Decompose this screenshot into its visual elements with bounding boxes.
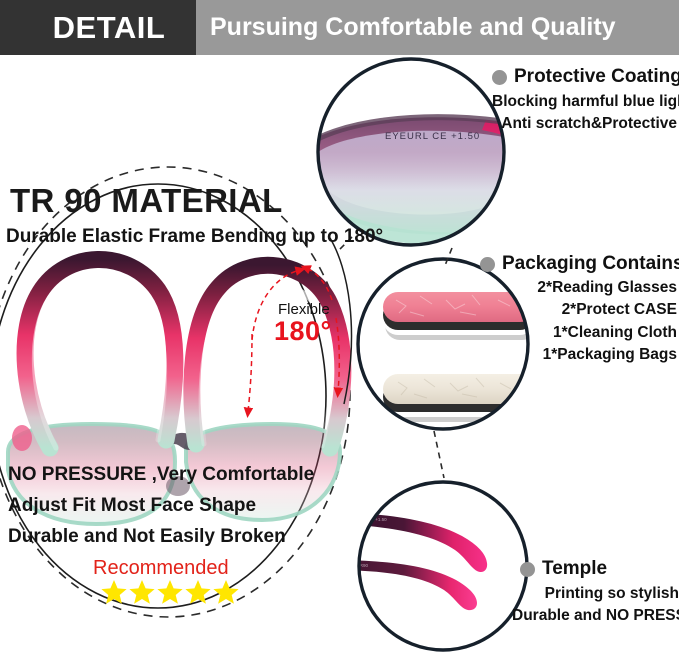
star-icon — [157, 580, 182, 604]
panel-title: TR 90 MATERIAL — [10, 182, 283, 220]
connector-panel-curve — [330, 238, 351, 404]
feature-line: 1*Cleaning Cloth — [480, 322, 677, 344]
protective-coating-circle-outline — [318, 59, 504, 245]
feature-block-protective-coating: Protective Coating Blocking harmful blue… — [492, 66, 679, 136]
feature-title: Protective Coating — [514, 66, 679, 88]
feature-line: Printing so stylish — [512, 583, 679, 605]
connector-coating-to-packaging — [444, 248, 452, 268]
star-icon — [101, 580, 126, 604]
panel-subtitle: Durable Elastic Frame Bending up to 180° — [6, 226, 383, 248]
benefit-line-2: Adjust Fit Most Face Shape — [8, 495, 256, 517]
recommended-label: Recommended — [93, 557, 229, 580]
product-detail-infographic: DETAIL Pursuing Comfortable and Quality — [0, 0, 679, 653]
feature-description: 2*Reading Glasses 2*Protect CASE 1*Clean… — [480, 277, 679, 367]
star-icon — [213, 580, 238, 604]
bullet-circle-icon — [480, 257, 495, 272]
feature-line: Blocking harmful blue light — [492, 91, 677, 113]
star-icon — [185, 580, 210, 604]
feature-line: Durable and NO PRESSURE — [512, 605, 679, 627]
feature-line: 1*Packaging Bags — [480, 344, 677, 366]
feature-block-packaging: Packaging Contains 2*Reading Glasses 2*P… — [480, 253, 679, 367]
flex-arrow-right — [306, 268, 332, 300]
header-tagline-label: Pursuing Comfortable and Quality — [196, 0, 679, 55]
header-badge-label: DETAIL — [0, 0, 196, 55]
flexible-angle-value: 180° — [274, 316, 332, 347]
flex-arrow-down — [248, 334, 252, 412]
feature-title-row: Protective Coating — [492, 66, 679, 88]
connector-packaging-to-temple — [434, 431, 444, 478]
feature-description: Blocking harmful blue light Anti scratch… — [492, 91, 679, 136]
feature-title: Temple — [542, 558, 607, 580]
star-rating — [100, 578, 240, 608]
temple-circle-outline — [359, 482, 527, 650]
benefit-line-1: NO PRESSURE ,Very Comfortable — [8, 464, 314, 486]
feature-line: Anti scratch&Protective — [492, 113, 677, 135]
bullet-circle-icon — [492, 70, 507, 85]
header-bar: DETAIL Pursuing Comfortable and Quality — [0, 0, 679, 55]
flex-arrow-right-down — [336, 318, 339, 392]
svg-text:EYEURL TR90 +1.50: EYEURL TR90 +1.50 — [344, 517, 387, 522]
svg-text:EYEURL TR90: EYEURL TR90 — [338, 563, 369, 568]
feature-line: 2*Reading Glasses — [480, 277, 677, 299]
feature-title-row: Packaging Contains — [480, 253, 679, 275]
feature-description: Printing so stylish Durable and NO PRESS… — [512, 583, 679, 628]
temple-photo: EYEURL TR90 +1.50 EYEURL TR90 — [330, 482, 527, 650]
feature-title-row: Temple — [512, 558, 679, 580]
star-icon — [129, 580, 154, 604]
lens-imprint-text: EYEURL CE +1.50 — [385, 131, 480, 142]
feature-block-temple: Temple Printing so stylish Durable and N… — [512, 558, 679, 628]
feature-line: 2*Protect CASE — [480, 299, 677, 321]
benefit-line-3: Durable and Not Easily Broken — [8, 526, 286, 548]
feature-title: Packaging Contains — [502, 253, 679, 275]
bullet-circle-icon — [520, 562, 535, 577]
